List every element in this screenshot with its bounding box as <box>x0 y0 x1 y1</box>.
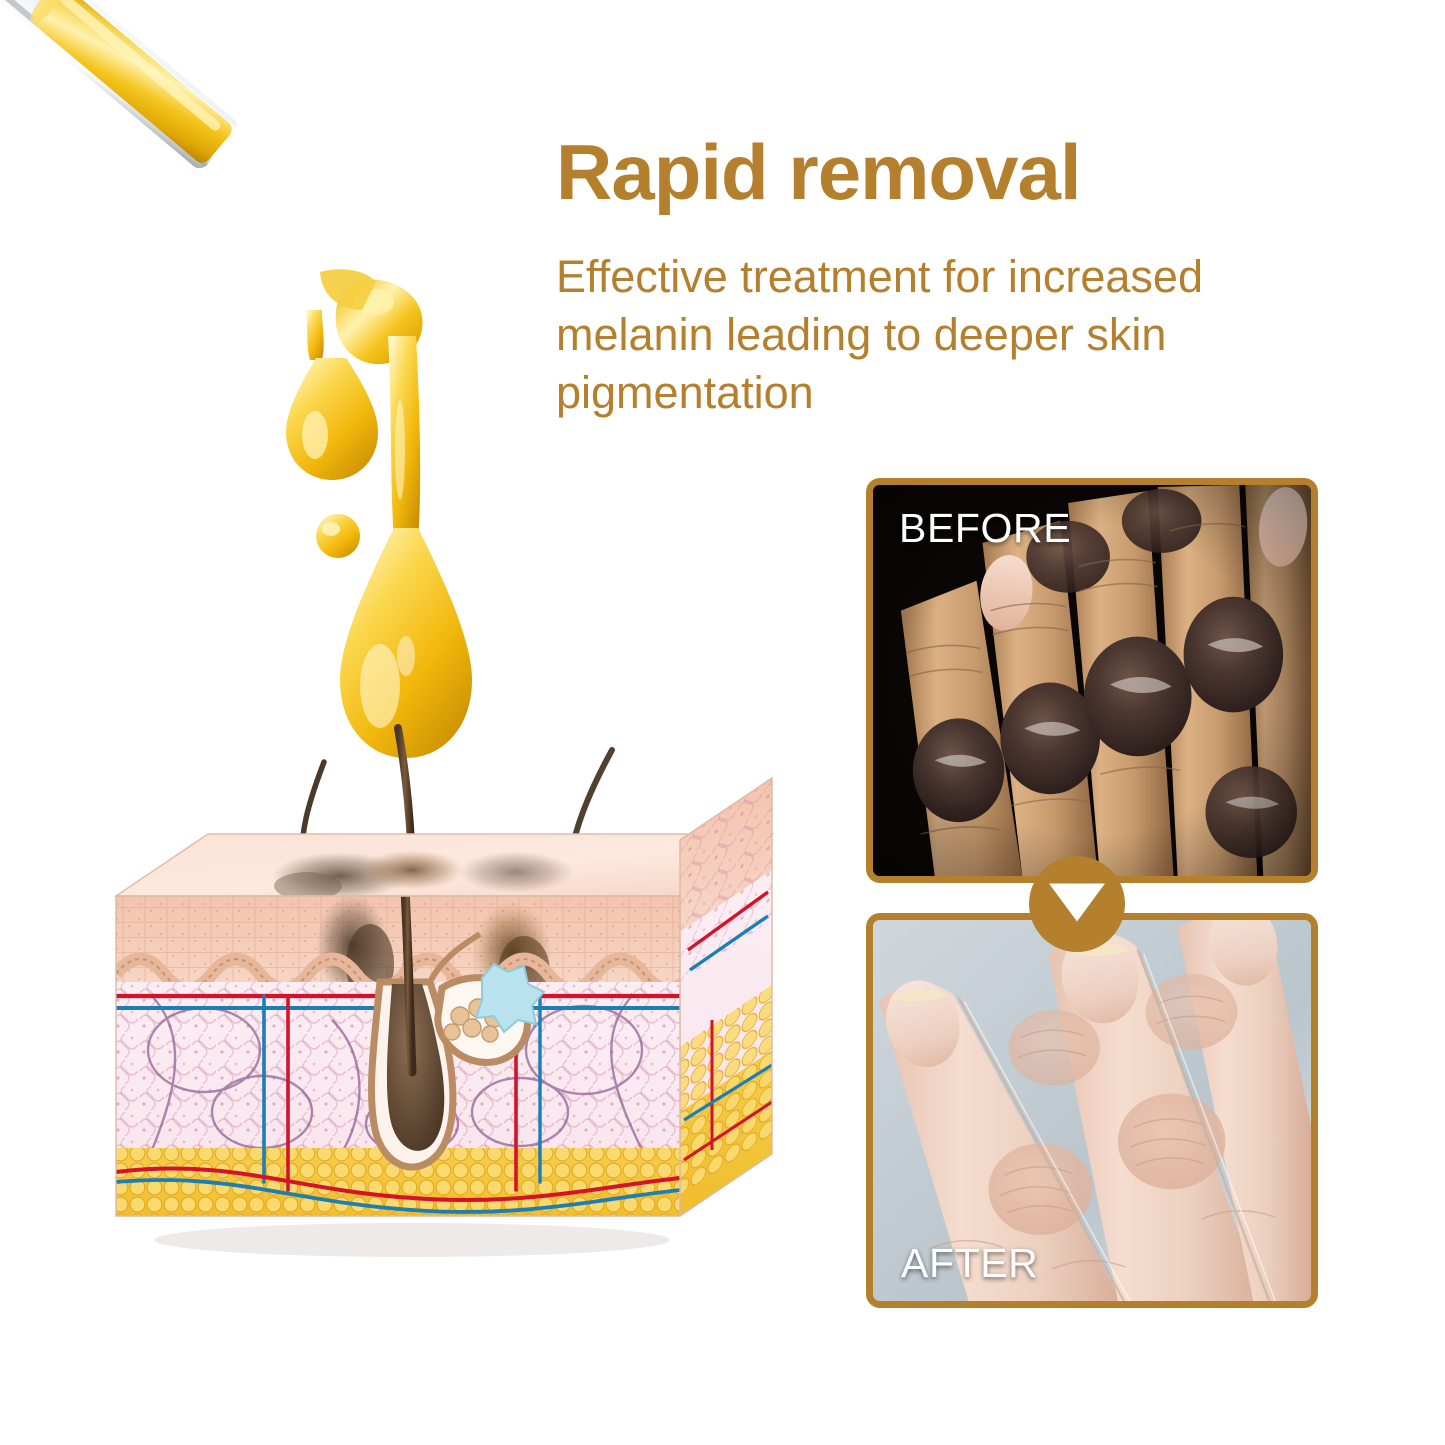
page-subtitle: Effective treatment for increased melani… <box>556 248 1346 422</box>
triangle-down-glyph <box>1049 883 1105 921</box>
after-photo-frame: AFTER <box>866 913 1318 1308</box>
oil-drop-small-teardrop <box>286 358 378 480</box>
before-photo <box>873 485 1311 876</box>
triangle-down-icon <box>1029 856 1125 952</box>
before-photo-frame: BEFORE <box>866 478 1318 883</box>
skin-cross-section-diagram <box>112 720 782 1300</box>
page-title: Rapid removal <box>556 132 1336 213</box>
glass-dropper-pipette <box>0 0 510 780</box>
product-marketing-banner: Rapid removal Effective treatment for in… <box>0 0 1445 1445</box>
oil-droplet-round <box>316 514 360 558</box>
after-photo <box>873 920 1311 1301</box>
